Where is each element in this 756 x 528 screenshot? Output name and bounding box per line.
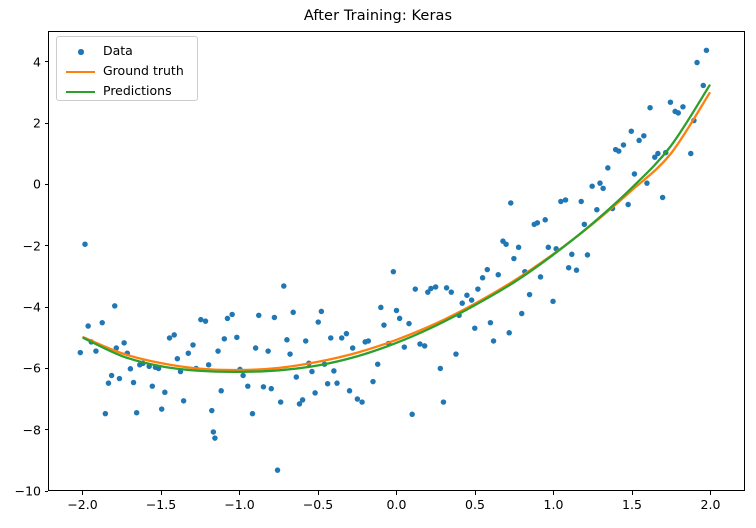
y-tickmark: [45, 184, 49, 185]
y-tickmark: [45, 123, 49, 124]
y-tickmark: [45, 368, 49, 369]
x-tickmark: [318, 491, 319, 495]
y-tickmark: [45, 307, 49, 308]
x-tick-label: 1.5: [622, 497, 642, 512]
x-tick-label: −2.0: [67, 497, 97, 512]
x-tick-label: 0.0: [387, 497, 407, 512]
x-tickmark: [161, 491, 162, 495]
y-tickmark: [45, 61, 49, 62]
legend-label: Predictions: [103, 83, 172, 98]
legend-entry-data: Data: [57, 42, 199, 62]
x-tickmark: [396, 491, 397, 495]
legend-entry-ground-truth: Ground truth: [57, 62, 199, 82]
x-tickmark: [632, 491, 633, 495]
x-tickmark: [475, 491, 476, 495]
legend-label: Ground truth: [103, 63, 184, 78]
y-tickmark: [45, 429, 49, 430]
legend-marker-line-icon: [66, 91, 95, 93]
x-tick-label: −1.0: [224, 497, 254, 512]
y-tickmark: [45, 491, 49, 492]
x-tick-label: 2.0: [701, 497, 721, 512]
x-tick-label: 0.5: [465, 497, 485, 512]
y-tickmark: [45, 245, 49, 246]
legend-marker-dot-icon: [78, 49, 84, 55]
legend: Data Ground truth Predictions: [56, 36, 198, 101]
legend-marker-line-icon: [66, 71, 95, 73]
x-tickmark: [239, 491, 240, 495]
x-tickmark: [553, 491, 554, 495]
x-tick-label: 1.0: [544, 497, 564, 512]
matplotlib-figure: After Training: Keras 420−2−4−6−8−10 −2.…: [0, 0, 756, 528]
x-tick-label: −1.5: [146, 497, 176, 512]
legend-entry-predictions: Predictions: [57, 82, 199, 102]
x-tickmark: [82, 491, 83, 495]
x-tick-label: −0.5: [303, 497, 333, 512]
legend-label: Data: [103, 43, 133, 58]
x-tickmark: [710, 491, 711, 495]
